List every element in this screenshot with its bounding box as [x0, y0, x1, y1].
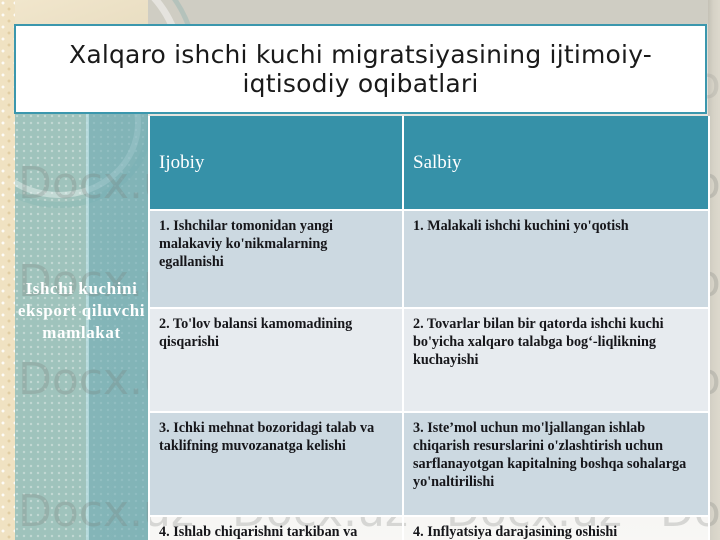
- cell-ijobiy-3: 3. Ichki mehnat bozoridagi talab va takl…: [149, 412, 403, 516]
- column-header-salbiy: Salbiy: [403, 116, 709, 210]
- cell-ijobiy-2: 2. To'lov balansi kamomadining qisqarish…: [149, 308, 403, 412]
- cell-salbiy-4: 4. Inflyatsiya darajasining oshishi: [403, 516, 709, 540]
- cell-salbiy-3: 3. Iste’mol uchun mo'ljallangan ishlab c…: [403, 412, 709, 516]
- left-cream-strip: [0, 0, 15, 540]
- consequences-table: Ijobiy Salbiy 1. Ishchilar tomonidan yan…: [148, 116, 710, 540]
- cell-salbiy-2: 2. Tovarlar bilan bir qatorda ishchi kuc…: [403, 308, 709, 412]
- table-row: 3. Ichki mehnat bozoridagi talab va takl…: [149, 412, 709, 516]
- table-header-row: Ijobiy Salbiy: [149, 116, 709, 210]
- table-row: 4. Ishlab chiqarishni tarkiban va texnol…: [149, 516, 709, 540]
- cell-ijobiy-1: 1. Ishchilar tomonidan yangi malakaviy k…: [149, 210, 403, 308]
- cell-ijobiy-4: 4. Ishlab chiqarishni tarkiban va texnol…: [149, 516, 403, 540]
- page-title: Xalqaro ishchi kuchi migratsiyasining ij…: [16, 40, 705, 99]
- cell-salbiy-1: 1. Malakali ishchi kuchini yo'qotish: [403, 210, 709, 308]
- slide-canvas: Docx.uz Docx.uz Docx.uz Docx.uz Docx.uz …: [0, 0, 720, 540]
- slide-title-box: Xalqaro ishchi kuchi migratsiyasining ij…: [14, 24, 707, 114]
- table-row: 2. To'lov balansi kamomadining qisqarish…: [149, 308, 709, 412]
- row-group-label: Ishchi kuchini eksport qiluvchi mamlakat: [15, 278, 148, 344]
- table-row: 1. Ishchilar tomonidan yangi malakaviy k…: [149, 210, 709, 308]
- column-header-ijobiy: Ijobiy: [149, 116, 403, 210]
